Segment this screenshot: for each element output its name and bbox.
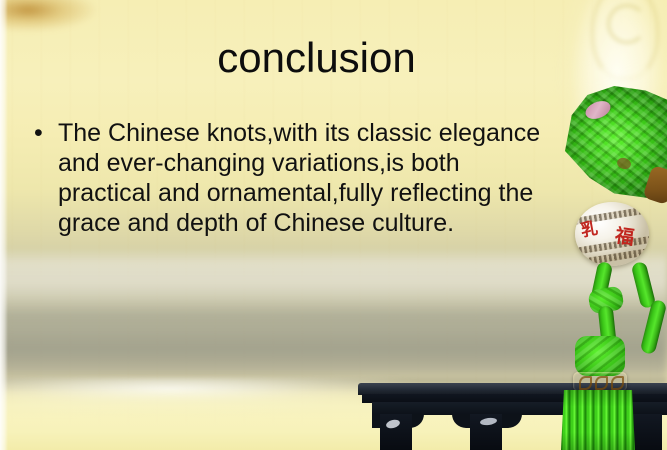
bullet-marker-icon: • — [34, 118, 58, 148]
porcelain-bead: 乳 福 — [575, 202, 649, 266]
gold-motif-icon — [579, 376, 592, 390]
bead-chinese-glyph: 福 — [614, 227, 635, 248]
green-tassel-shading — [561, 390, 635, 450]
slide-body: • The Chinese knots,with its classic ele… — [34, 118, 554, 238]
knot-cord — [640, 299, 667, 355]
bullet-list-item: • The Chinese knots,with its classic ele… — [34, 118, 554, 238]
gold-tassel-ring — [573, 372, 627, 391]
presentation-slide: 乳 福 conclusion • The Chinese knots,with … — [0, 0, 667, 450]
gold-motif-icon — [611, 376, 624, 390]
knot-lower-braid — [575, 336, 625, 376]
gold-motif-icon — [595, 376, 608, 390]
slide-title: conclusion — [0, 36, 667, 80]
bullet-item-text: The Chinese knots,with its classic elega… — [58, 118, 554, 238]
bead-chinese-glyph: 乳 — [580, 221, 600, 241]
